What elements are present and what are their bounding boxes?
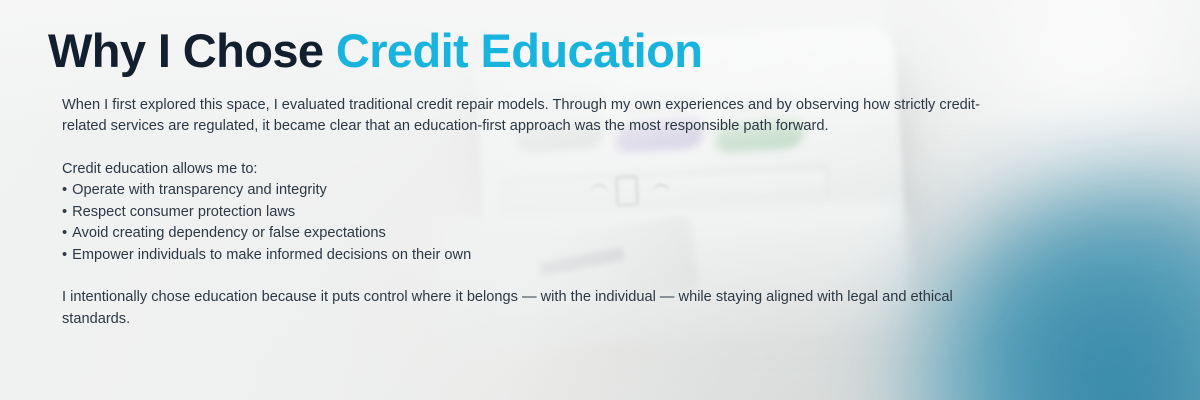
bullet-dot-icon: • bbox=[62, 225, 67, 241]
bullet-dot-icon: • bbox=[62, 204, 67, 220]
page-title-lead: Why I Chose bbox=[48, 24, 336, 77]
list-item: •Empower individuals to make informed de… bbox=[62, 245, 992, 267]
bullet-dot-icon: • bbox=[62, 182, 67, 198]
benefits-list: •Operate with transparency and integrity… bbox=[62, 180, 992, 266]
intro-paragraph: When I first explored this space, I eval… bbox=[62, 95, 992, 138]
list-item-label: Avoid creating dependency or false expec… bbox=[72, 225, 386, 241]
list-item: •Avoid creating dependency or false expe… bbox=[62, 223, 992, 245]
list-item-label: Operate with transparency and integrity bbox=[72, 182, 327, 198]
list-item: •Operate with transparency and integrity bbox=[62, 180, 992, 202]
hero-copy: When I first explored this space, I eval… bbox=[62, 95, 992, 331]
bullet-dot-icon: • bbox=[62, 247, 67, 263]
list-item-label: Empower individuals to make informed dec… bbox=[72, 247, 471, 263]
page-title: Why I Chose Credit Education bbox=[48, 26, 1200, 76]
paragraph-spacer bbox=[62, 138, 992, 159]
list-intro-text: Credit education allows me to: bbox=[62, 159, 992, 181]
page-title-accent: Credit Education bbox=[336, 24, 702, 77]
list-item-label: Respect consumer protection laws bbox=[72, 204, 295, 220]
hero-banner: Why I Chose Credit Education When I firs… bbox=[0, 0, 1200, 400]
hero-content: Why I Chose Credit Education When I firs… bbox=[0, 0, 1200, 330]
closing-paragraph: I intentionally chose education because … bbox=[62, 287, 992, 330]
list-item: •Respect consumer protection laws bbox=[62, 202, 992, 224]
paragraph-spacer bbox=[62, 266, 992, 287]
